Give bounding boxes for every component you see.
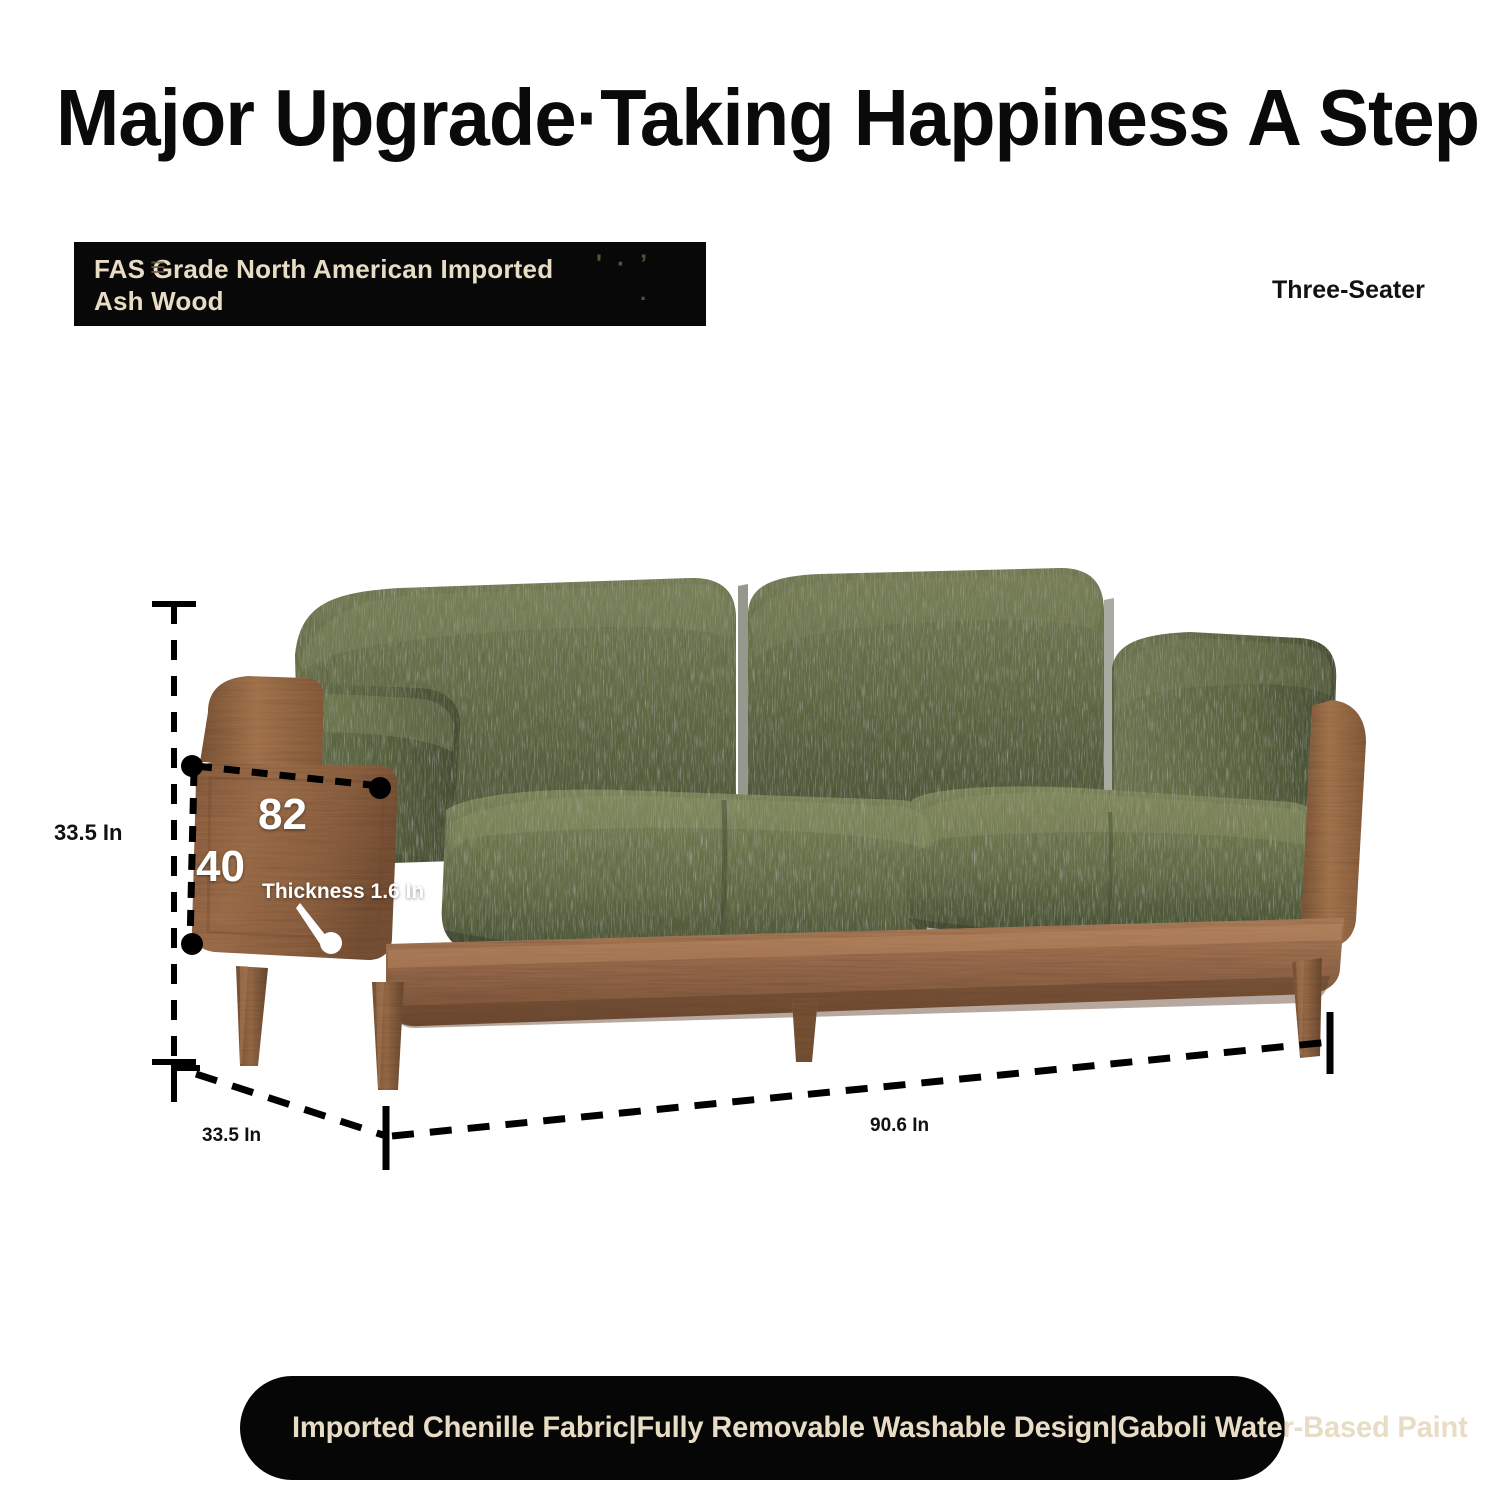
wood-grade-line-2: Ash Wood [94,286,224,316]
wood-grade-badge: FAS Grade North American Imported Ash Wo… [74,242,706,326]
product-image-canvas: Major Upgrade·Taking Happiness A Step Fu… [0,0,1500,1500]
height-dimension-label: 33.5 In [50,818,126,848]
panel-lower-measure-label: 40 [196,842,245,892]
feature-pill-text: Imported Chenille Fabric|Fully Removable… [292,1398,1456,1458]
width-dimension-line [392,1012,1330,1136]
panel-upper-measure-label: 82 [258,790,307,840]
depth-dimension-label: 33.5 In [198,1123,265,1149]
thickness-pointer [296,903,342,954]
wood-grade-badge-text: FAS Grade North American Imported Ash Wo… [94,253,694,317]
thickness-label: Thickness 1.6 In [262,880,424,904]
width-dimension-label: 90.6 In [866,1113,933,1139]
dimension-annotation-overlay [0,0,1500,1500]
depth-dimension-line [174,1062,386,1170]
seater-count-label: Three-Seater [1272,276,1425,305]
wood-grade-line-1: FAS Grade North American Imported [94,254,553,284]
